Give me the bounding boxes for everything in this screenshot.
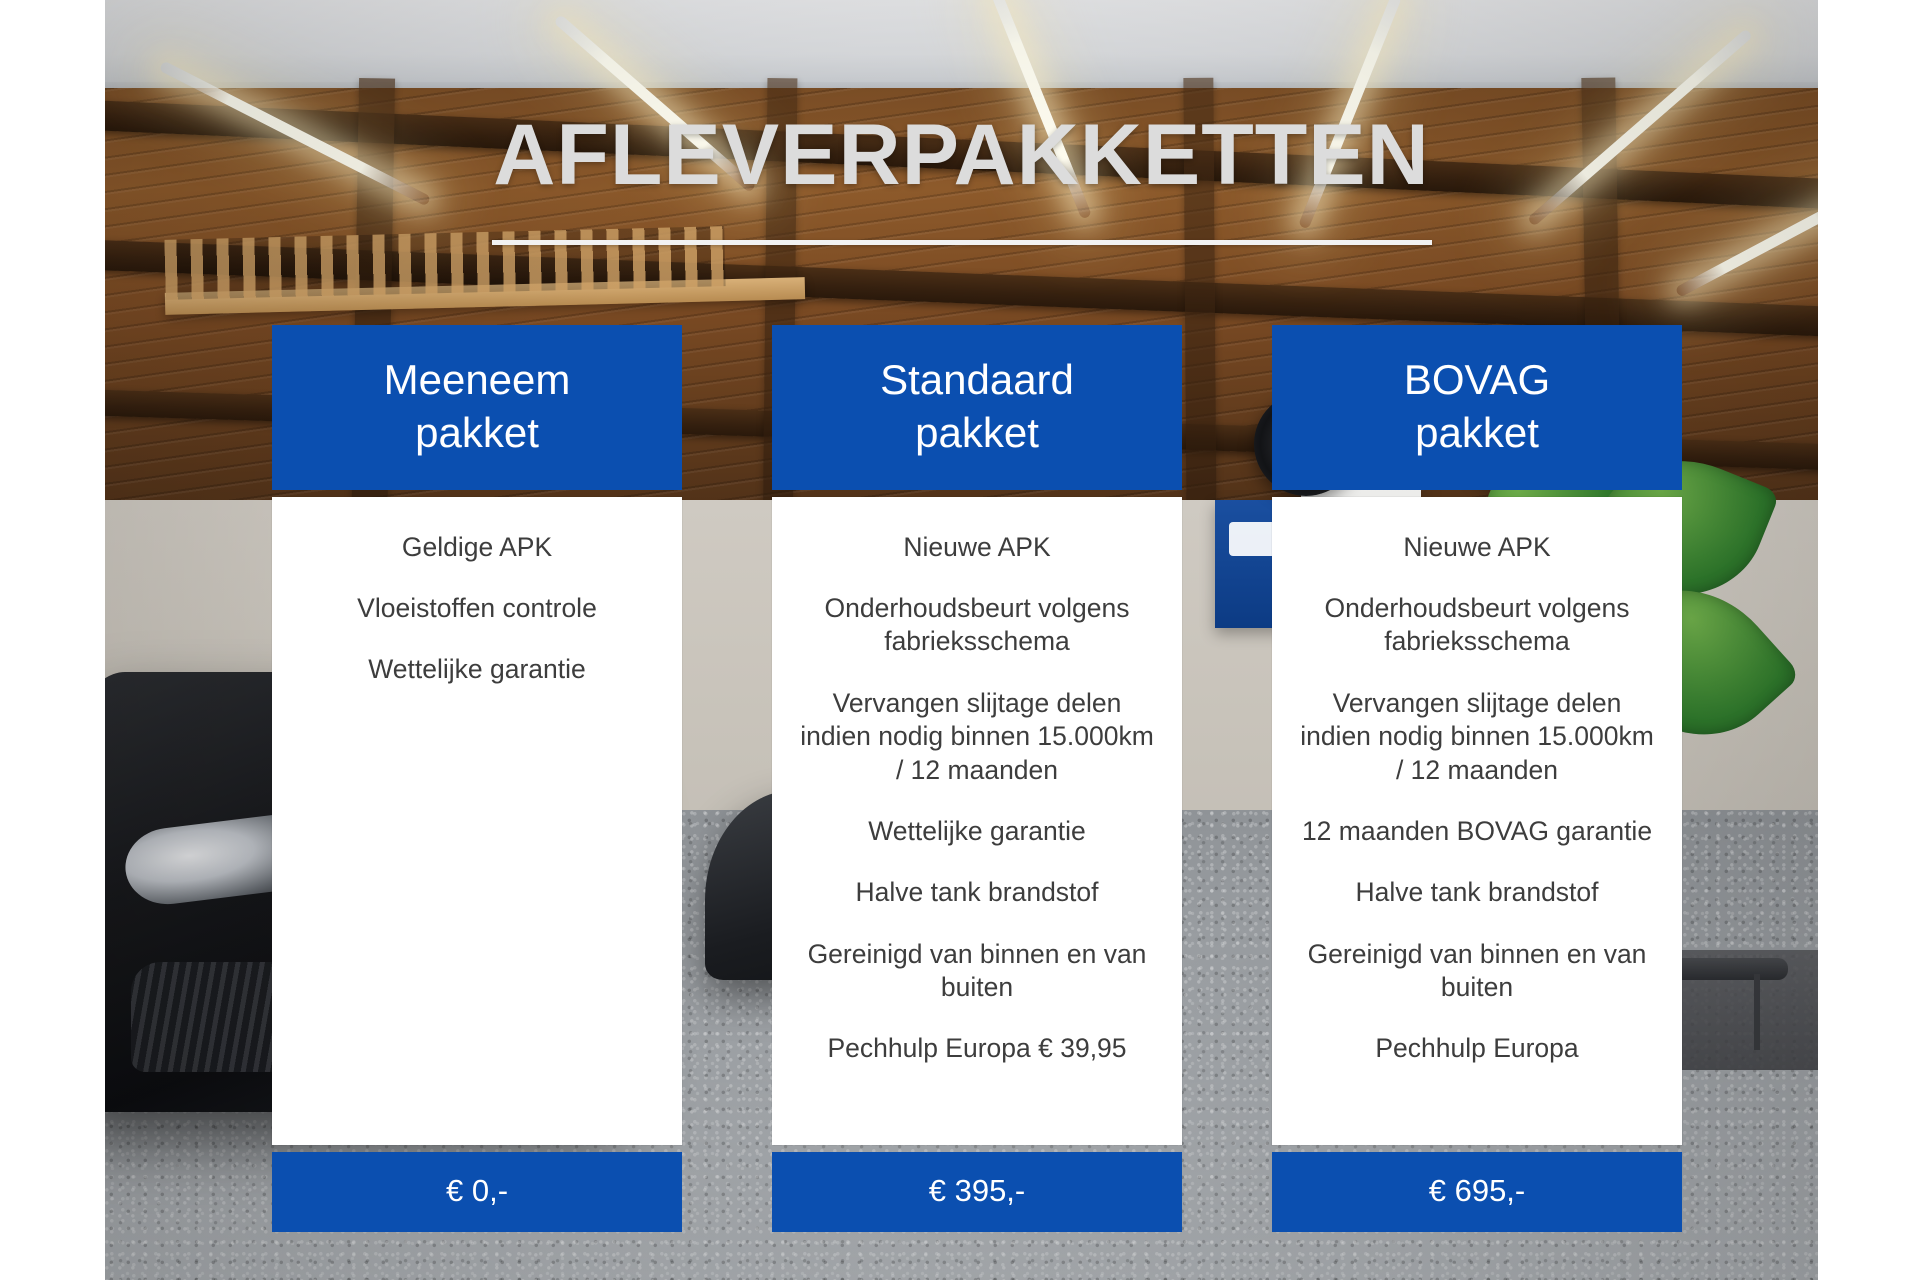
package-card-standaard[interactable]: Standaard pakket Nieuwe APK Onderhoudsbe…	[772, 325, 1182, 1232]
feature-item: Wettelijke garantie	[298, 653, 656, 686]
feature-item: Pechhulp Europa € 39,95	[798, 1032, 1156, 1065]
feature-item: Wettelijke garantie	[798, 815, 1156, 848]
package-name-line1: Standaard	[782, 353, 1172, 406]
package-card-meeneem[interactable]: Meeneem pakket Geldige APK Vloeistoffen …	[272, 325, 682, 1232]
package-feature-list: Nieuwe APK Onderhoudsbeurt volgens fabri…	[1272, 497, 1682, 1145]
feature-item: Gereinigd van binnen en van buiten	[798, 938, 1156, 1005]
package-name-line1: BOVAG	[1282, 353, 1672, 406]
feature-item: Geldige APK	[298, 531, 656, 564]
package-header: Meeneem pakket	[272, 325, 682, 490]
feature-item: Gereinigd van binnen en van buiten	[1298, 938, 1656, 1005]
package-price[interactable]: € 695,-	[1272, 1152, 1682, 1232]
feature-item: Nieuwe APK	[798, 531, 1156, 564]
title-block: AFLEVERPAKKETTEN	[105, 112, 1818, 245]
feature-item: Vloeistoffen controle	[298, 592, 656, 625]
feature-item: Vervangen slijtage delen indien nodig bi…	[798, 687, 1156, 787]
package-feature-list: Geldige APK Vloeistoffen controle Wettel…	[272, 497, 682, 1145]
feature-item: Onderhoudsbeurt volgens fabrieksschema	[1298, 592, 1656, 659]
feature-item: Nieuwe APK	[1298, 531, 1656, 564]
feature-item: Pechhulp Europa	[1298, 1032, 1656, 1065]
page-title: AFLEVERPAKKETTEN	[105, 112, 1818, 198]
package-price[interactable]: € 395,-	[772, 1152, 1182, 1232]
package-price[interactable]: € 0,-	[272, 1152, 682, 1232]
slide-canvas: AFLEVERPAKKETTEN Meeneem pakket Geldige …	[0, 0, 1920, 1280]
title-divider	[492, 240, 1432, 245]
feature-item: Halve tank brandstof	[798, 876, 1156, 909]
feature-item: Onderhoudsbeurt volgens fabrieksschema	[798, 592, 1156, 659]
package-feature-list: Nieuwe APK Onderhoudsbeurt volgens fabri…	[772, 497, 1182, 1145]
package-card-bovag[interactable]: BOVAG pakket Nieuwe APK Onderhoudsbeurt …	[1272, 325, 1682, 1232]
side-table-leg	[1754, 974, 1760, 1050]
feature-item: Vervangen slijtage delen indien nodig bi…	[1298, 687, 1656, 787]
package-name-line1: Meeneem	[282, 353, 672, 406]
package-name-line2: pakket	[782, 406, 1172, 459]
package-header: Standaard pakket	[772, 325, 1182, 490]
package-name-line2: pakket	[1282, 406, 1672, 459]
feature-item: Halve tank brandstof	[1298, 876, 1656, 909]
package-name-line2: pakket	[282, 406, 672, 459]
feature-item: 12 maanden BOVAG garantie	[1298, 815, 1656, 848]
package-header: BOVAG pakket	[1272, 325, 1682, 490]
